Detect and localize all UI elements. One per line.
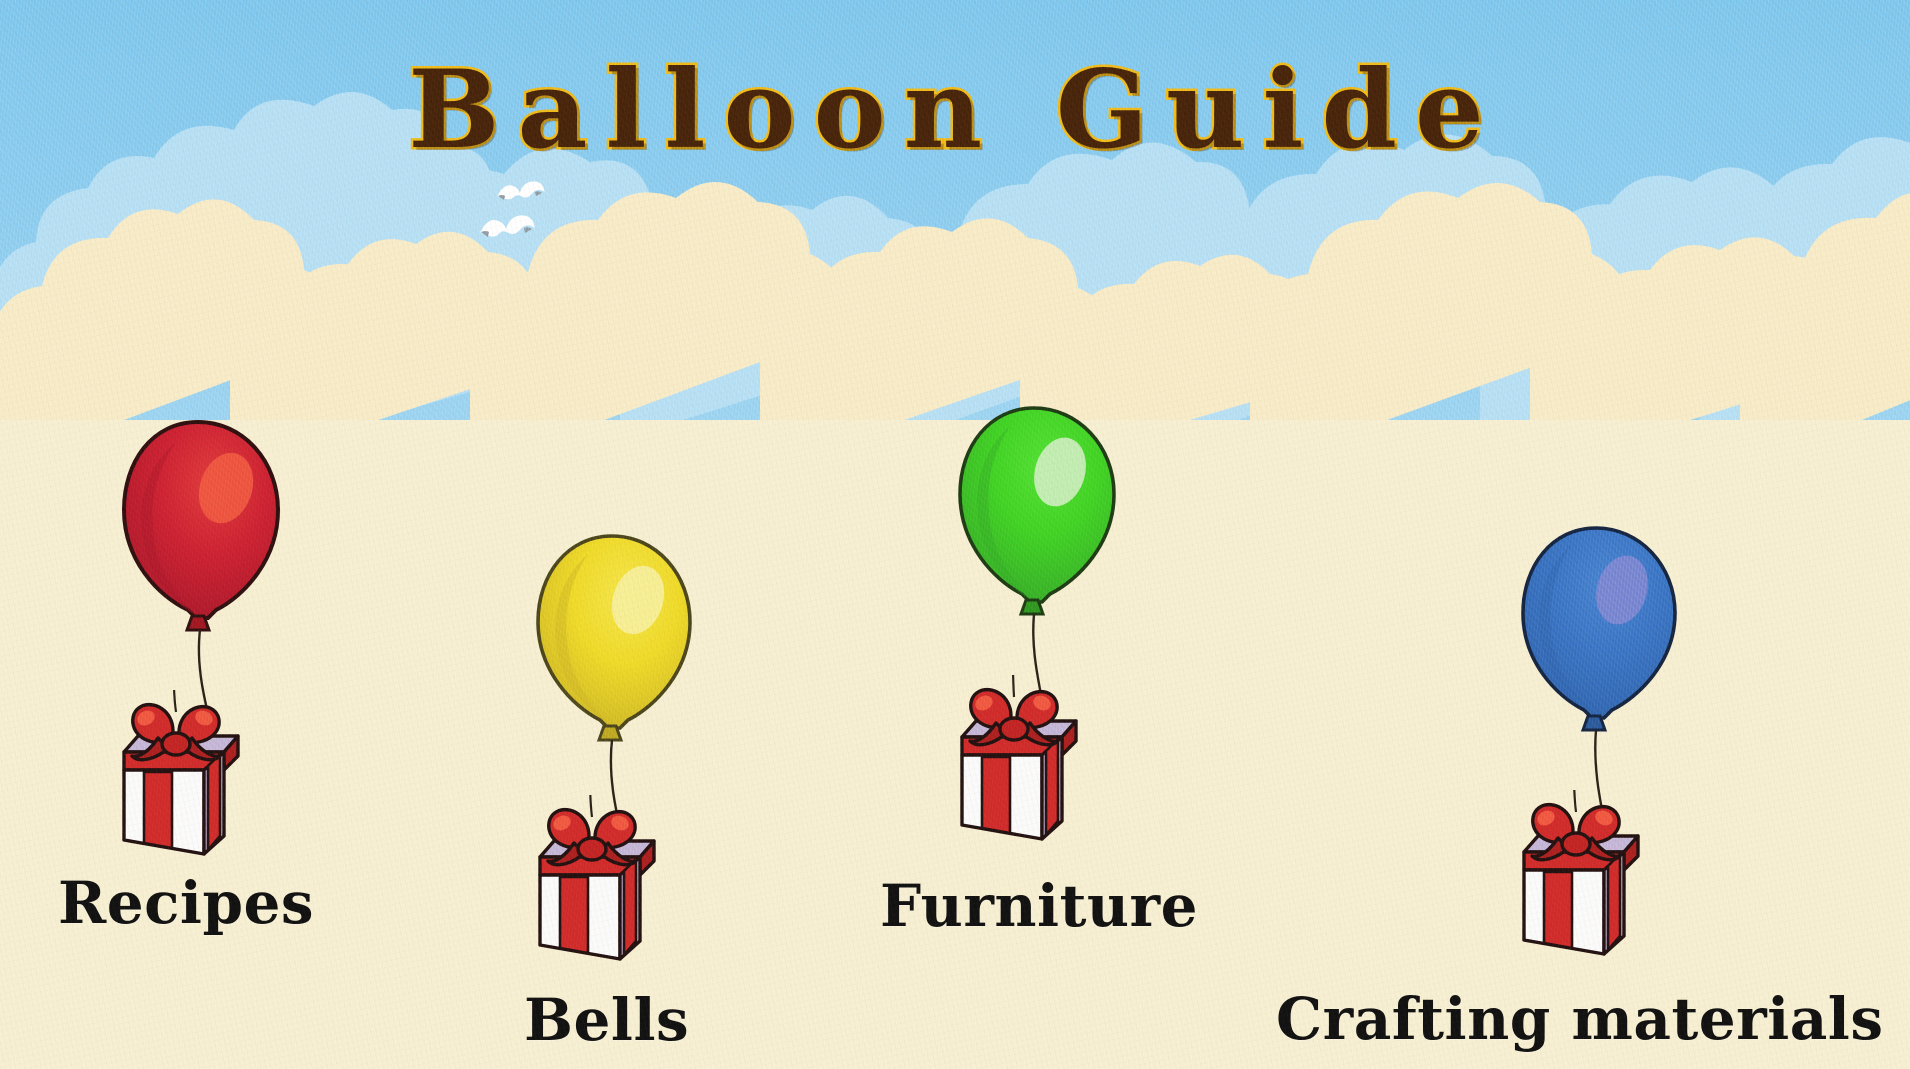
balloon-blue[interactable] — [1512, 520, 1688, 820]
balloon-guide-scene: Balloon Guide — [0, 0, 1910, 1069]
balloon-label-crafting-materials: Crafting materials — [1276, 985, 1884, 1053]
gift-box-crafting-materials[interactable] — [1500, 790, 1660, 970]
balloon-item-crafting-materials[interactable]: Crafting materials — [0, 0, 1910, 1069]
